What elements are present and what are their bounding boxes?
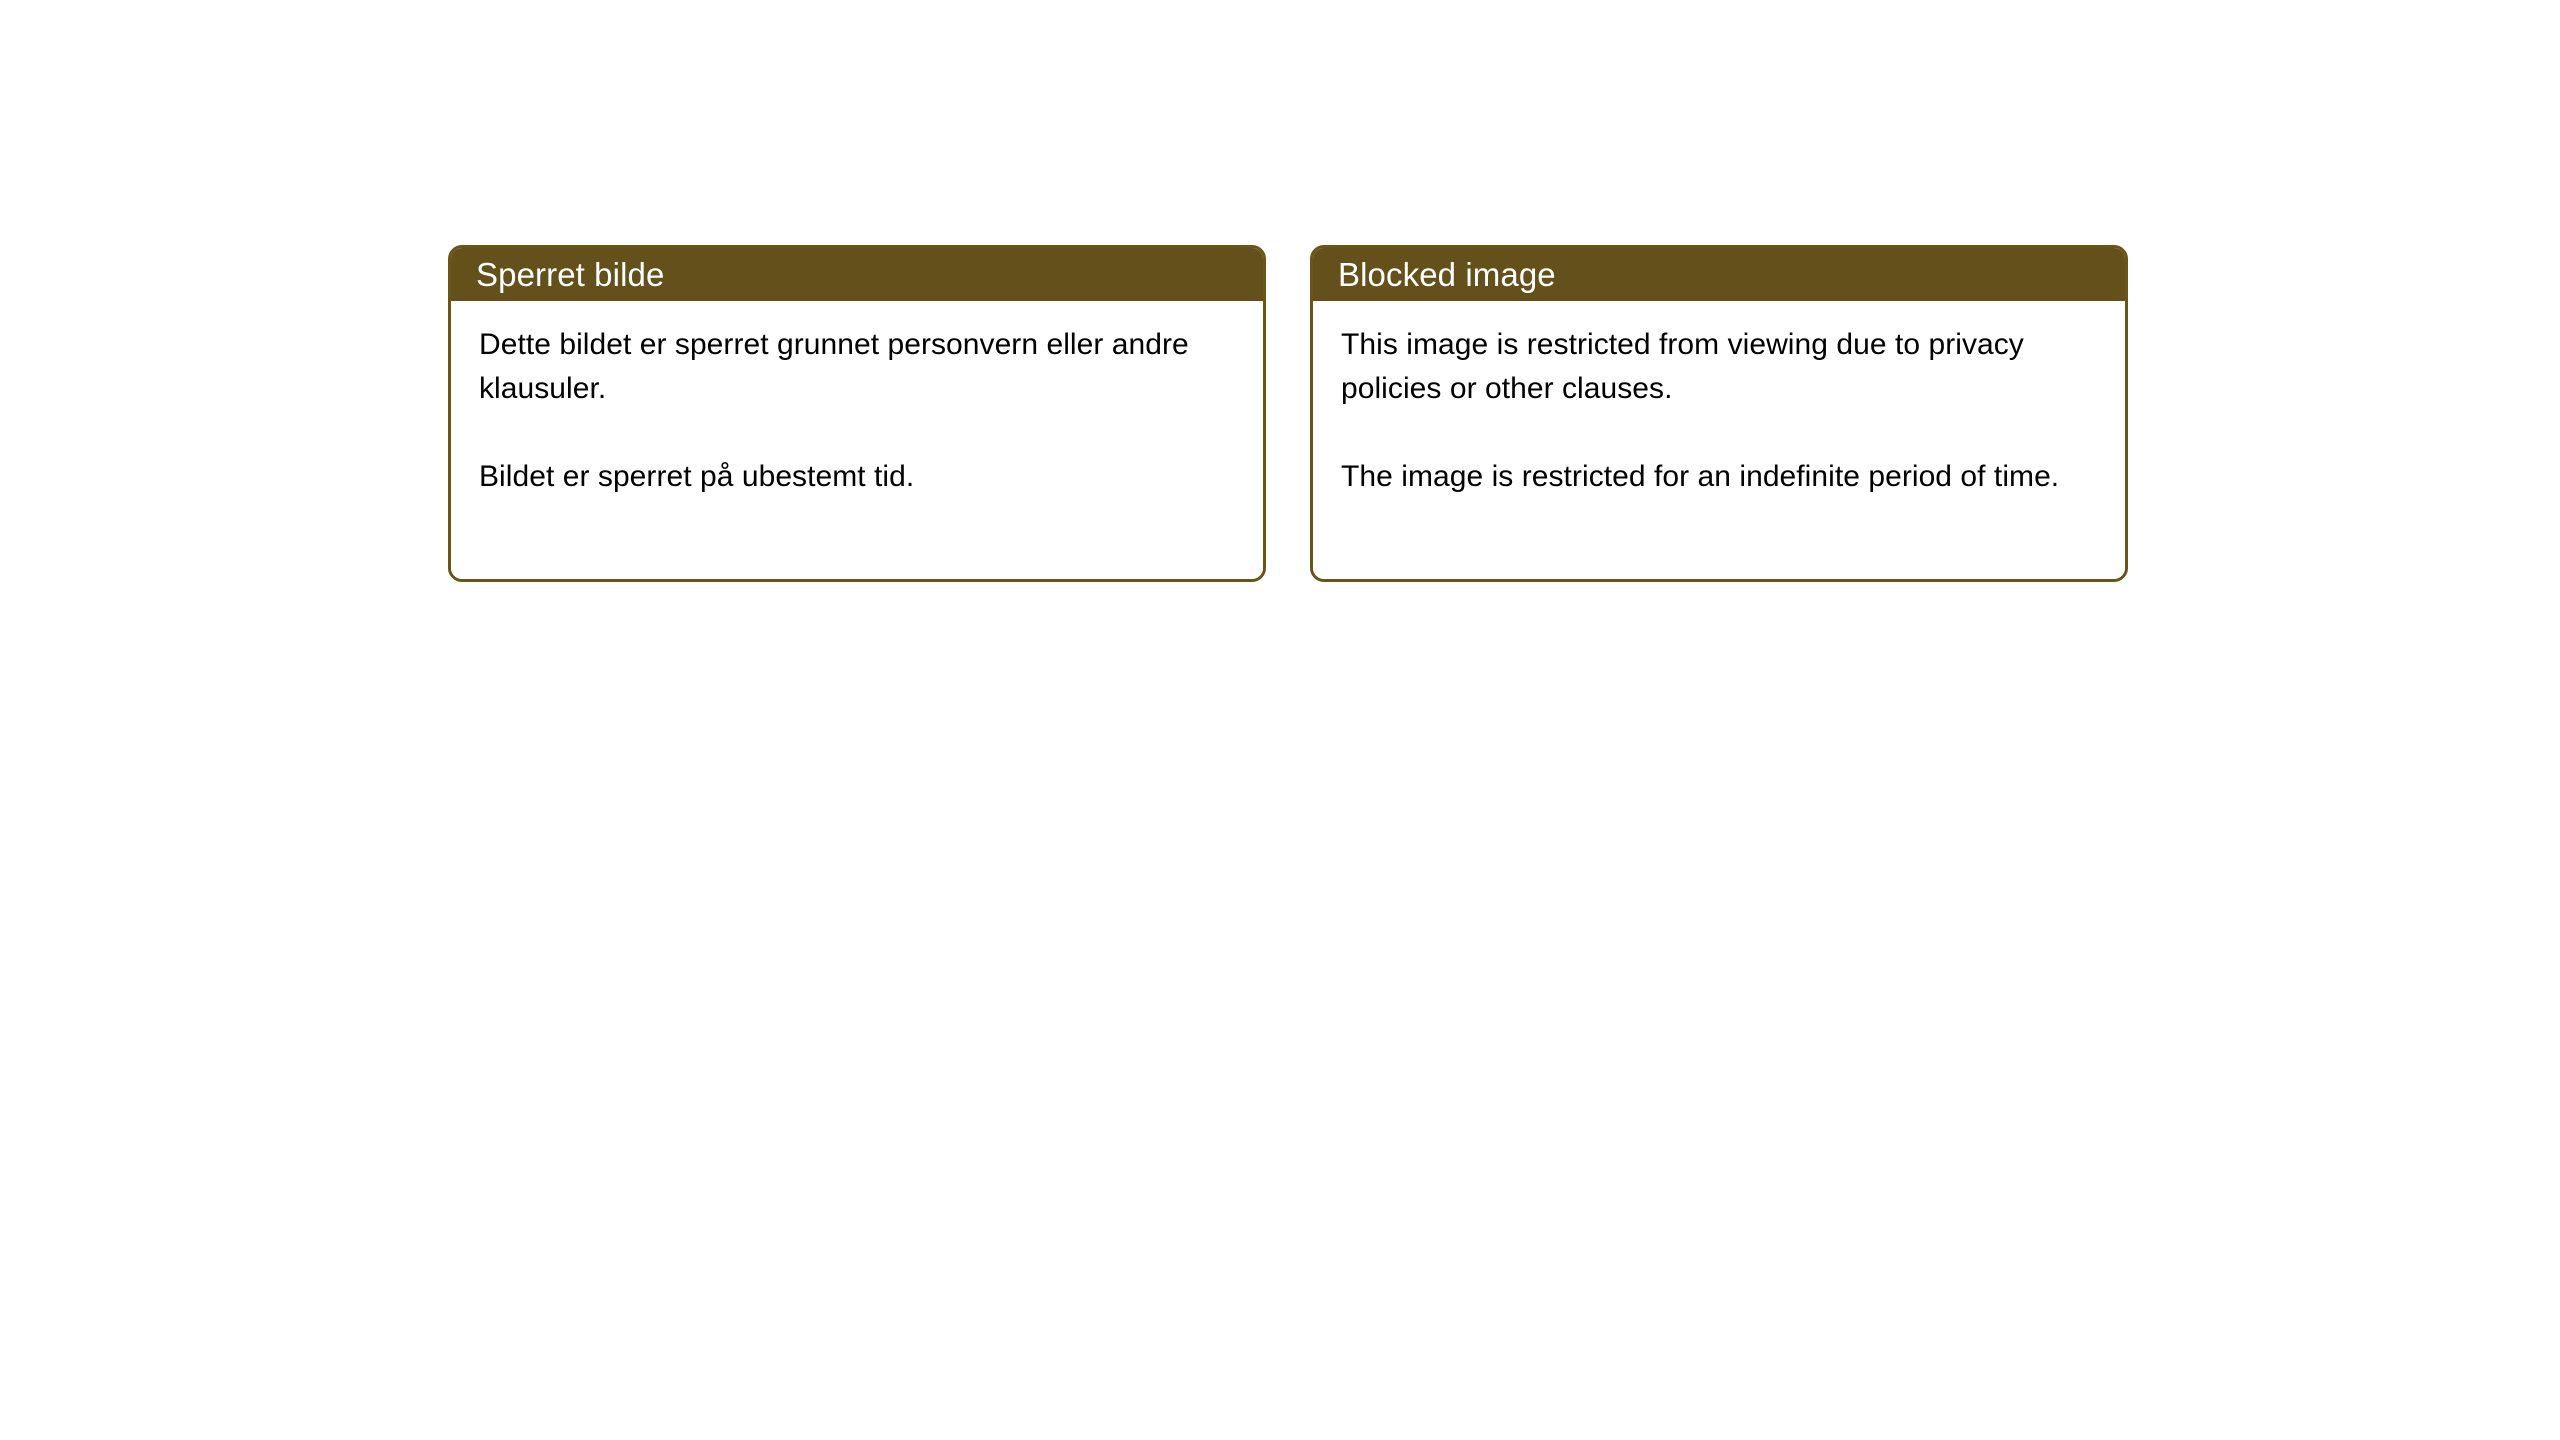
card-paragraph-english-2: The image is restricted for an indefinit… [1341,455,2095,499]
card-body-english: This image is restricted from viewing du… [1313,301,2125,579]
card-title-norwegian: Sperret bilde [476,257,664,293]
page-canvas: Sperret bilde Dette bildet er sperret gr… [0,0,2560,1440]
card-paragraph-norwegian-1: Dette bildet er sperret grunnet personve… [479,323,1233,411]
blocked-image-notice-card-english: Blocked image This image is restricted f… [1310,245,2128,582]
card-header-norwegian: Sperret bilde [451,248,1263,301]
blocked-image-notice-card-norwegian: Sperret bilde Dette bildet er sperret gr… [448,245,1266,582]
card-title-english: Blocked image [1338,257,1556,293]
card-body-norwegian: Dette bildet er sperret grunnet personve… [451,301,1263,579]
card-paragraph-norwegian-2: Bildet er sperret på ubestemt tid. [479,455,1233,499]
card-header-english: Blocked image [1313,248,2125,301]
card-paragraph-english-1: This image is restricted from viewing du… [1341,323,2095,411]
